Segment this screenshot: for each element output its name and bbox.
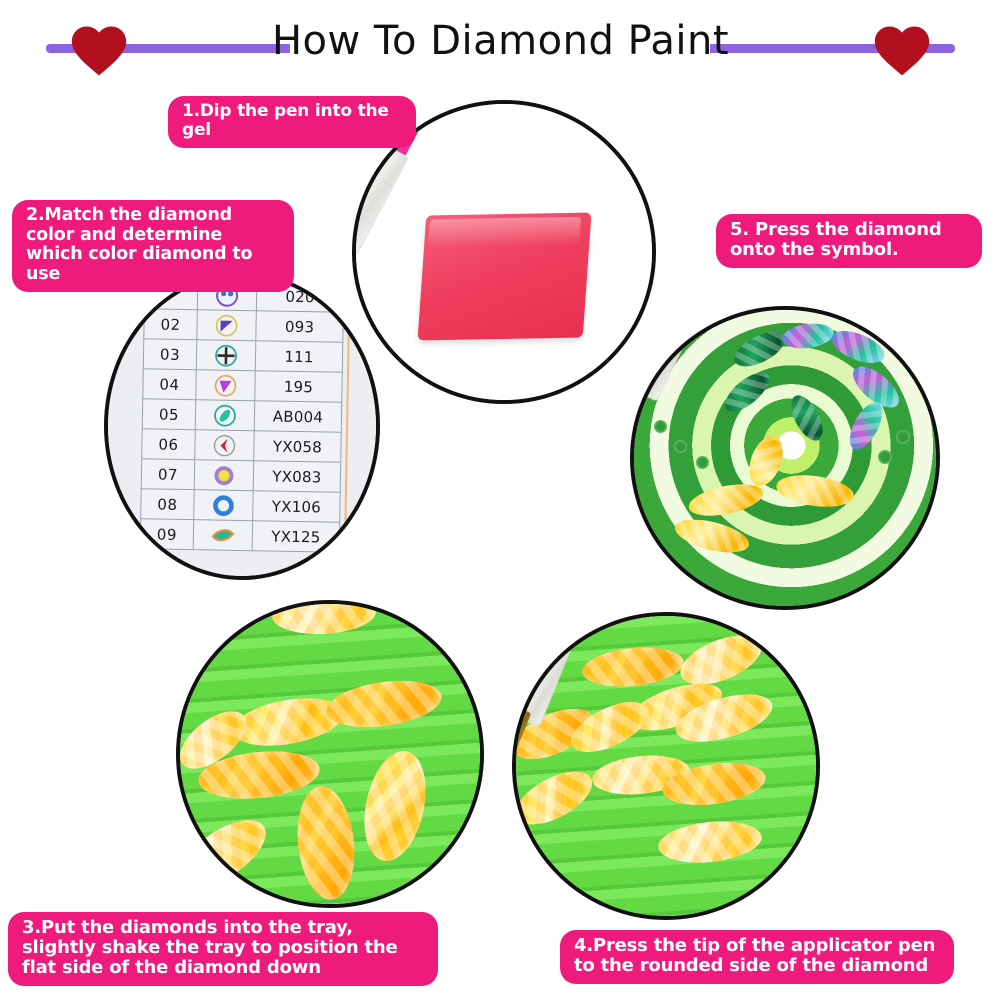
table-row: 08 YX106 (141, 489, 340, 522)
chart-number: 08 (141, 489, 195, 520)
diamond-color-chart-table: 020 02 093 03 111 (140, 278, 345, 552)
chart-number: 09 (140, 519, 194, 550)
chart-number: 04 (143, 369, 197, 400)
teal-oval-symbol (195, 400, 255, 431)
table-row: 05 AB004 (142, 399, 341, 432)
step-4-photo (512, 612, 820, 920)
chart-number: 06 (142, 429, 196, 460)
chart-code: YX083 (253, 461, 341, 493)
step-1-label: 1.Dip the pen into the gel (168, 96, 416, 148)
chart-code: YX058 (254, 431, 342, 463)
step-5-photo (630, 306, 940, 610)
header: How To Diamond Paint (0, 0, 1001, 92)
chart-code: 093 (256, 311, 344, 343)
plus-cross-symbol (196, 340, 256, 371)
chart-number: 02 (144, 309, 198, 340)
chart-code: AB004 (254, 401, 342, 433)
magenta-triangle-symbol (196, 370, 256, 401)
yellow-dot-circle-symbol (194, 460, 254, 491)
step-4-label: 4.Press the tip of the applicator pen to… (560, 930, 954, 984)
table-row: 06 YX058 (142, 429, 341, 462)
chart-code: 195 (255, 371, 343, 403)
teal-leaf-symbol (193, 520, 253, 551)
table-row: 09 YX125 (140, 519, 339, 552)
table-row: 07 YX083 (141, 459, 340, 492)
gel-pad (418, 213, 592, 341)
table-row: 02 093 (144, 309, 343, 342)
purple-triangle-symbol (197, 310, 257, 341)
chart-number: 05 (142, 399, 196, 430)
chart-code: 111 (255, 341, 343, 373)
poster: How To Diamond Paint 1.Dip the pen into … (0, 0, 1001, 1001)
step-3-photo (176, 600, 484, 908)
page-title: How To Diamond Paint (0, 18, 1001, 64)
red-chevron-symbol (195, 430, 255, 461)
blue-ring-symbol (194, 490, 254, 521)
step-5-label: 5. Press the diamond onto the symbol. (716, 214, 982, 268)
step-2-label: 2.Match the diamond color and determine … (12, 200, 294, 292)
table-row: 03 111 (143, 339, 342, 372)
chart-number: 07 (141, 459, 195, 490)
step-3-label: 3.Put the diamonds into the tray, slight… (8, 912, 438, 986)
table-row: 04 195 (143, 369, 342, 402)
chart-code: YX106 (253, 491, 341, 523)
chart-number: 03 (143, 339, 197, 370)
step-2-photo: 020 02 093 03 111 (104, 272, 380, 580)
chart-code: YX125 (252, 521, 340, 553)
